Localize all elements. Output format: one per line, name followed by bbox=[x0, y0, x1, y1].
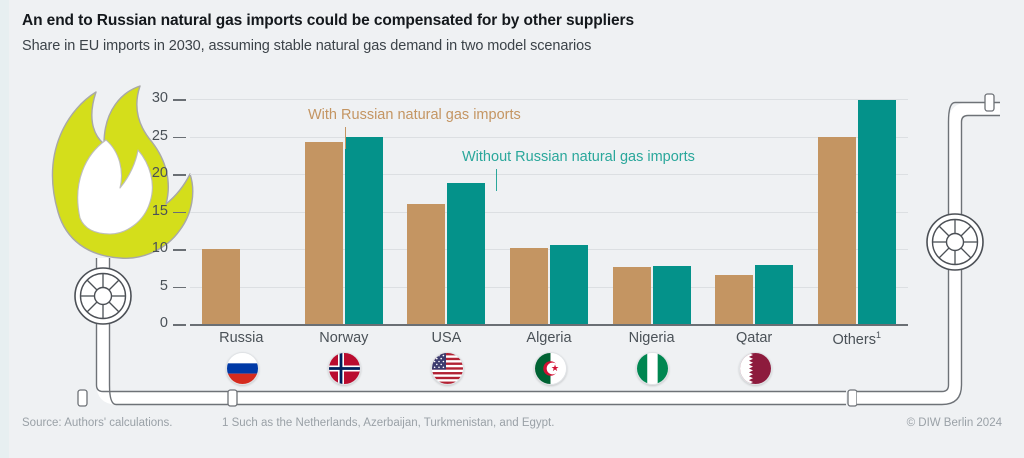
y-tick-30 bbox=[173, 99, 186, 101]
bar-with-russian-2 bbox=[407, 204, 445, 324]
bar-without-russian-1 bbox=[345, 137, 383, 325]
flag-icon-qatar bbox=[739, 352, 772, 385]
gridline-15 bbox=[190, 212, 908, 213]
bar-without-russian-2 bbox=[447, 183, 485, 324]
gridline-20 bbox=[190, 174, 908, 175]
y-tick-5 bbox=[173, 287, 186, 289]
legend-leader-tan bbox=[345, 127, 346, 149]
legend-with-russian: With Russian natural gas imports bbox=[308, 107, 521, 123]
bar-without-russian-3 bbox=[550, 245, 588, 324]
bar-without-russian-5 bbox=[755, 265, 793, 324]
gas-flame-icon bbox=[53, 86, 193, 258]
footer-source: Source: Authors' calculations. bbox=[22, 417, 173, 429]
bar-without-russian-4 bbox=[653, 266, 691, 324]
valve-wheel-icon-left bbox=[75, 268, 131, 324]
legend-without-russian: Without Russian natural gas imports bbox=[462, 149, 695, 165]
flag-icon-russia bbox=[226, 352, 259, 385]
category-label-qatar: Qatar bbox=[703, 330, 806, 346]
gridline-5 bbox=[190, 287, 908, 288]
bar-with-russian-0 bbox=[202, 249, 240, 324]
category-label-norway: Norway bbox=[293, 330, 396, 346]
gridline-30 bbox=[190, 99, 908, 100]
category-label-algeria: Algeria bbox=[498, 330, 601, 346]
footer-copyright: © DIW Berlin 2024 bbox=[907, 417, 1002, 429]
bar-with-russian-6 bbox=[818, 137, 856, 325]
y-axis-label-15: 15 bbox=[128, 203, 168, 219]
category-label-others: Others1 bbox=[805, 330, 908, 348]
page-subtitle: Share in EU imports in 2030, assuming st… bbox=[22, 38, 591, 54]
category-label-russia: Russia bbox=[190, 330, 293, 346]
category-label-usa: USA bbox=[395, 330, 498, 346]
bar-with-russian-4 bbox=[613, 267, 651, 324]
y-tick-25 bbox=[173, 137, 186, 139]
y-axis-label-10: 10 bbox=[128, 240, 168, 256]
y-axis-label-25: 25 bbox=[128, 128, 168, 144]
y-axis-label-5: 5 bbox=[128, 278, 168, 294]
y-tick-15 bbox=[173, 212, 186, 214]
y-tick-0 bbox=[173, 324, 186, 326]
flag-icon-norway bbox=[328, 352, 361, 385]
bar-with-russian-5 bbox=[715, 275, 753, 325]
y-tick-10 bbox=[173, 249, 186, 251]
gridline-0 bbox=[190, 324, 908, 326]
gridline-10 bbox=[190, 249, 908, 250]
y-axis-label-0: 0 bbox=[128, 315, 168, 331]
bar-with-russian-1 bbox=[305, 142, 343, 324]
page-title: An end to Russian natural gas imports co… bbox=[22, 12, 634, 30]
bar-with-russian-3 bbox=[510, 248, 548, 325]
flag-icon-algeria bbox=[534, 352, 567, 385]
legend-leader-teal bbox=[496, 169, 497, 191]
gridline-25 bbox=[190, 137, 908, 138]
flag-icon-nigeria bbox=[636, 352, 669, 385]
y-axis-label-30: 30 bbox=[128, 90, 168, 106]
y-axis-label-20: 20 bbox=[128, 165, 168, 181]
footer-note: 1 Such as the Netherlands, Azerbaijan, T… bbox=[222, 417, 554, 429]
y-tick-20 bbox=[173, 174, 186, 176]
valve-wheel-icon-right bbox=[927, 214, 983, 270]
flag-icon-usa bbox=[431, 352, 464, 385]
chart-plot-area: 051015202530 RussiaNorwayUSAAlgeriaNiger… bbox=[190, 99, 908, 324]
category-label-nigeria: Nigeria bbox=[600, 330, 703, 346]
left-edge-strip bbox=[0, 0, 9, 458]
bar-without-russian-6 bbox=[858, 100, 896, 324]
